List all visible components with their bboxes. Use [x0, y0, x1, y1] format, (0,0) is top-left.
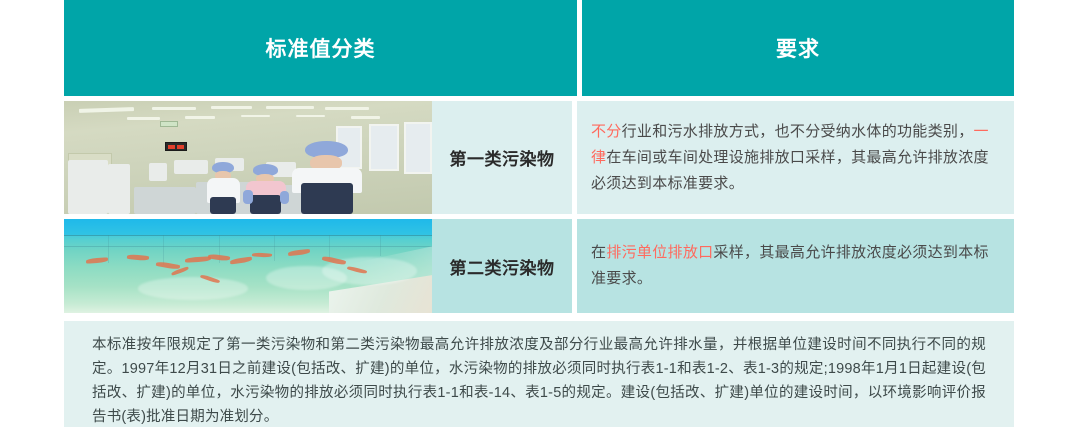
factory-image-content — [64, 101, 432, 214]
pool-rim — [64, 219, 432, 235]
worker-near — [292, 141, 362, 214]
row-label-class-1: 第一类污染物 — [432, 101, 572, 214]
requirement-text-1: 不分行业和污水排放方式，也不分受纳水体的功能类别，一律在车间或车间处理设施排放口… — [591, 119, 992, 197]
row-requirement-class-1: 不分行业和污水排放方式，也不分受纳水体的功能类别，一律在车间或车间处理设施排放口… — [577, 101, 1014, 214]
standard-value-table-page: 标准值分类 要求 — [0, 0, 1080, 427]
worker-far — [206, 162, 243, 214]
fish-pool-photo — [64, 219, 432, 313]
row-requirement-class-2: 在排污单位排放口采样，其最高允许排放浓度必须达到本标准要求。 — [577, 219, 1014, 313]
table-header-requirement: 要求 — [582, 0, 1014, 96]
cleanroom-factory-photo — [64, 101, 432, 214]
standard-note-block: 本标准按年限规定了第一类污染物和第二类污染物最高允许排放浓度及部分行业最高允许排… — [64, 321, 1014, 427]
worker-mid — [244, 164, 288, 214]
row-label-class-2: 第二类污染物 — [432, 219, 572, 313]
note-paragraph: 本标准按年限规定了第一类污染物和第二类污染物最高允许排放浓度及部分行业最高允许排… — [92, 333, 986, 429]
table-row: 第二类污染物 在排污单位排放口采样，其最高允许排放浓度必须达到本标准要求。 — [64, 219, 1014, 313]
requirement-text-2: 在排污单位排放口采样，其最高允许排放浓度必须达到本标准要求。 — [591, 240, 992, 292]
pool-image-content — [64, 219, 432, 313]
standard-classification-table: 标准值分类 要求 — [64, 0, 1014, 313]
table-header-classification: 标准值分类 — [64, 0, 577, 96]
table-row: 第一类污染物 不分行业和污水排放方式，也不分受纳水体的功能类别，一律在车间或车间… — [64, 101, 1014, 214]
table-header-row: 标准值分类 要求 — [64, 0, 1014, 96]
